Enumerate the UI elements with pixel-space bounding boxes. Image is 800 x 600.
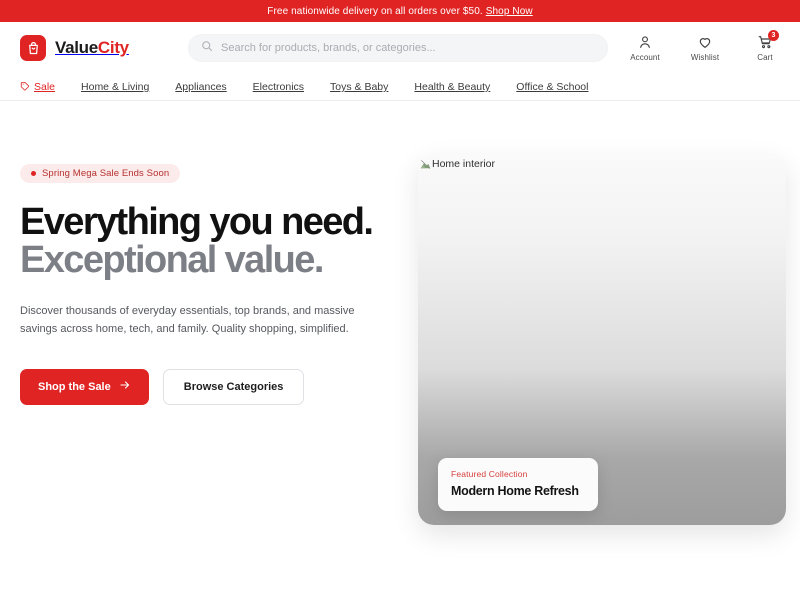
- cart-button[interactable]: 3 Cart: [746, 34, 784, 62]
- nav-item-office-and-school[interactable]: Office & School: [516, 81, 588, 93]
- nav-item-label: Appliances: [175, 81, 226, 93]
- hero-cta-group: Shop the Sale Browse Categories: [20, 369, 402, 405]
- featured-collection-title: Modern Home Refresh: [451, 484, 585, 498]
- nav-item-label: Toys & Baby: [330, 81, 388, 93]
- shop-the-sale-button[interactable]: Shop the Sale: [20, 369, 149, 405]
- nav-item-toys-and-baby[interactable]: Toys & Baby: [330, 81, 388, 93]
- shopping-bag-icon: [20, 35, 46, 61]
- account-label: Account: [630, 53, 660, 62]
- promo-banner-text: Free nationwide delivery on all orders o…: [267, 6, 482, 17]
- hero-subtitle: Discover thousands of everyday essential…: [20, 303, 378, 339]
- brand-name: ValueCity: [55, 38, 129, 58]
- cart-label: Cart: [757, 53, 773, 62]
- brand-logo[interactable]: ValueCity: [20, 35, 129, 61]
- hero-heading-line2: need.: [281, 201, 372, 243]
- browse-categories-button[interactable]: Browse Categories: [163, 369, 305, 405]
- promo-banner: Free nationwide delivery on all orders o…: [0, 0, 800, 22]
- search-box[interactable]: [188, 34, 608, 62]
- search-input[interactable]: [221, 42, 595, 54]
- search-icon: [201, 39, 213, 57]
- nav-item-health-and-beauty[interactable]: Health & Beauty: [414, 81, 490, 93]
- hero-heading-line3: Exceptional value.: [20, 241, 402, 279]
- brand-name-part2: City: [98, 38, 129, 57]
- nav-item-home-and-living[interactable]: Home & Living: [81, 81, 149, 93]
- arrow-right-icon: [119, 379, 131, 394]
- nav-item-label: Sale: [34, 81, 55, 93]
- hero-heading: Everything you need. Exceptional value.: [20, 203, 402, 279]
- search-bar[interactable]: [188, 34, 608, 62]
- hero-image: Home interior Featured Collection Modern…: [418, 153, 786, 525]
- hero-content: Spring Mega Sale Ends Soon Everything yo…: [20, 153, 402, 525]
- status-dot-icon: [31, 171, 36, 176]
- account-button[interactable]: Account: [626, 34, 664, 62]
- shop-the-sale-label: Shop the Sale: [38, 381, 111, 393]
- hero-promo-badge: Spring Mega Sale Ends Soon: [20, 164, 180, 183]
- header-actions: Account Wishlist 3 Cart: [626, 34, 784, 62]
- nav-item-electronics[interactable]: Electronics: [253, 81, 304, 93]
- nav-item-label: Office & School: [516, 81, 588, 93]
- broken-image-alt-text: Home interior: [432, 158, 495, 170]
- site-header: ValueCity Account: [0, 22, 800, 74]
- user-icon: [637, 34, 653, 50]
- hero-promo-badge-label: Spring Mega Sale Ends Soon: [42, 168, 169, 179]
- hero-heading-line1: Everything you: [20, 201, 272, 243]
- nav-item-label: Electronics: [253, 81, 304, 93]
- featured-collection-card[interactable]: Featured Collection Modern Home Refresh: [438, 458, 598, 511]
- hero-media-column: Home interior Featured Collection Modern…: [418, 153, 786, 525]
- nav-item-sale[interactable]: Sale: [20, 81, 55, 94]
- category-nav: Sale Home & Living Appliances Electronic…: [0, 74, 800, 101]
- nav-item-appliances[interactable]: Appliances: [175, 81, 226, 93]
- heart-icon: [697, 34, 713, 50]
- featured-collection-eyebrow: Featured Collection: [451, 469, 585, 479]
- browse-categories-label: Browse Categories: [184, 381, 284, 393]
- tag-icon: [20, 81, 30, 94]
- promo-shop-now-link[interactable]: Shop Now: [486, 6, 533, 17]
- cart-count-badge: 3: [768, 30, 779, 41]
- wishlist-button[interactable]: Wishlist: [686, 34, 724, 62]
- brand-name-part1: Value: [55, 38, 98, 57]
- hero-section: Spring Mega Sale Ends Soon Everything yo…: [0, 101, 800, 525]
- nav-item-label: Home & Living: [81, 81, 149, 93]
- wishlist-label: Wishlist: [691, 53, 719, 62]
- nav-item-label: Health & Beauty: [414, 81, 490, 93]
- broken-image-placeholder: Home interior: [420, 158, 495, 170]
- broken-image-icon: [420, 159, 431, 170]
